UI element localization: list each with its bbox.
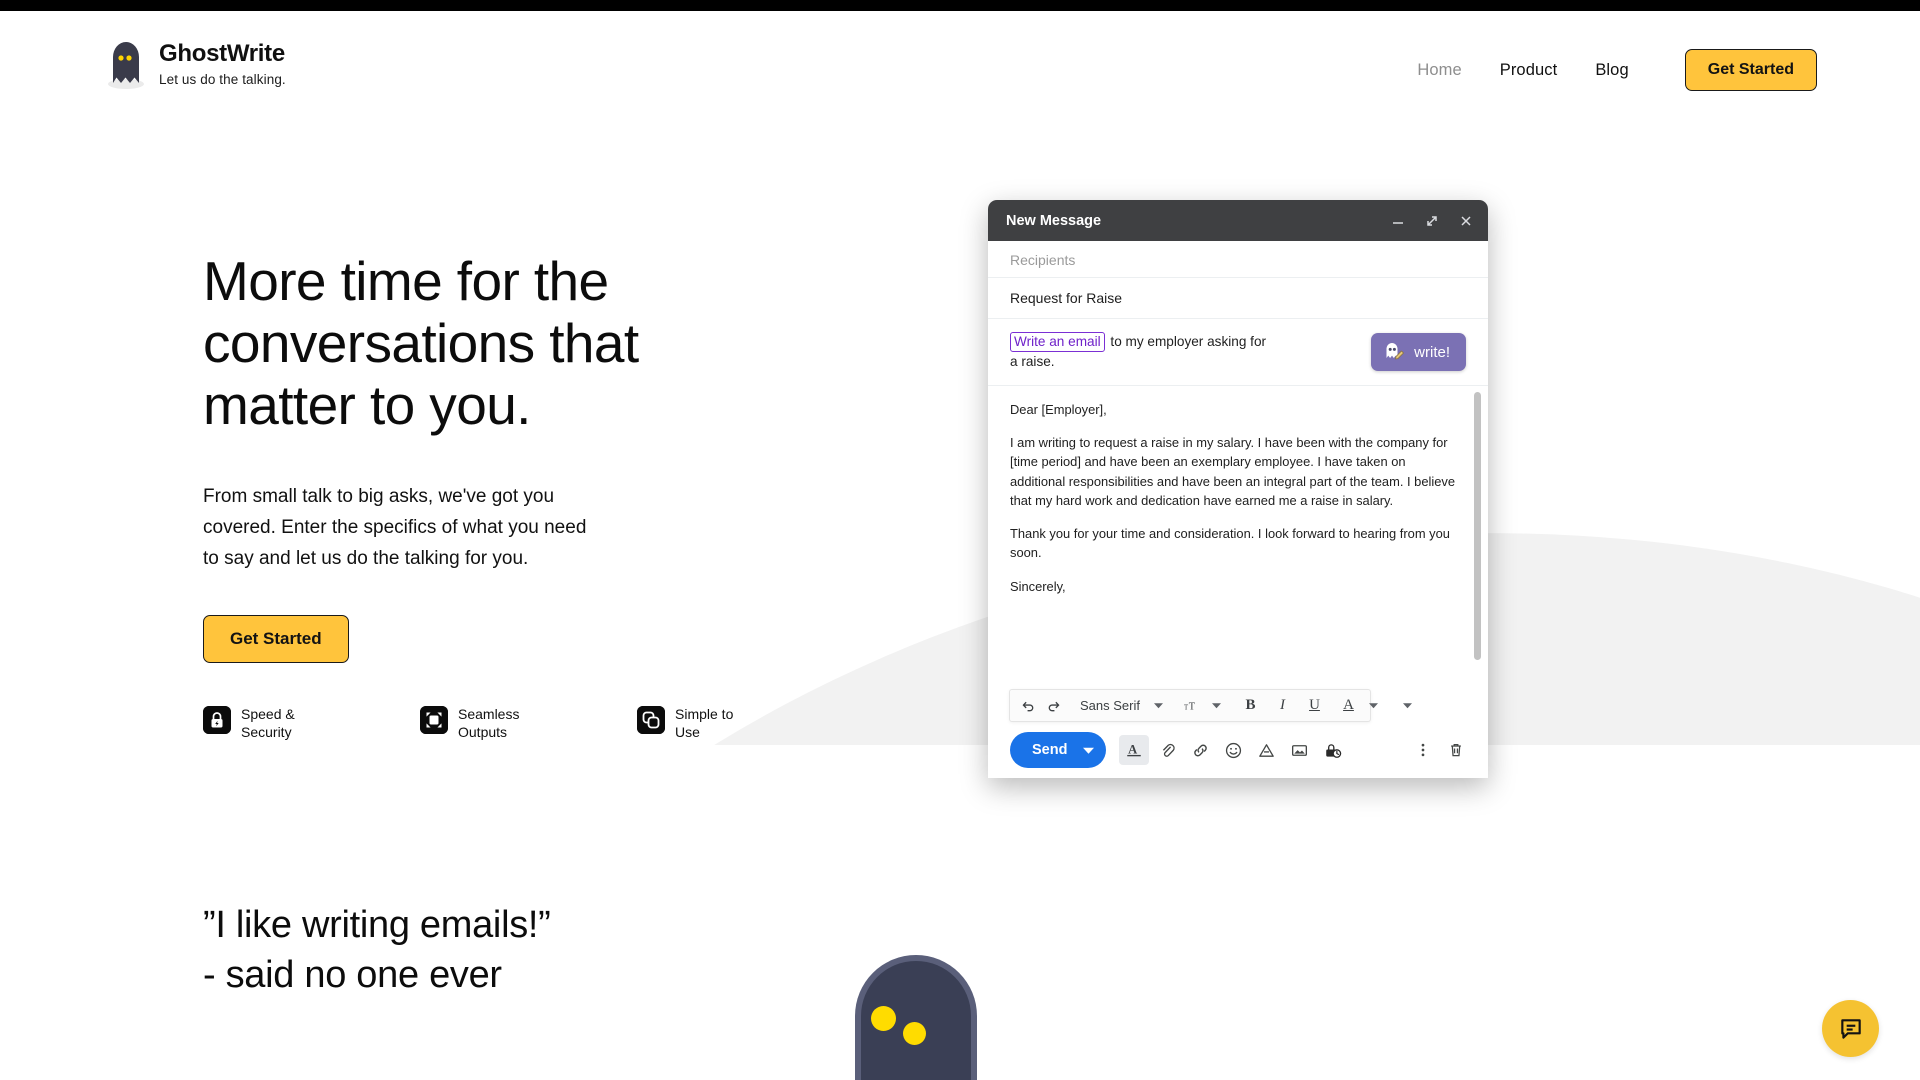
linked-squares-icon xyxy=(637,706,665,734)
compose-window-title: New Message xyxy=(1006,213,1388,229)
format-text-icon[interactable]: A xyxy=(1119,735,1149,765)
ghost-icon xyxy=(103,37,149,91)
hero-subtitle: From small talk to big asks, we've got y… xyxy=(203,482,588,574)
main-navigation: Home Product Blog Get Started xyxy=(1417,49,1817,91)
insert-photo-icon[interactable] xyxy=(1284,735,1314,765)
font-size-chevron-down-icon[interactable] xyxy=(1206,693,1227,718)
minimize-icon[interactable] xyxy=(1388,211,1408,231)
bold-button[interactable]: B xyxy=(1240,693,1261,718)
expand-icon[interactable] xyxy=(1422,211,1442,231)
compose-email-window: New Message xyxy=(988,200,1488,778)
mascot-ghost-large xyxy=(855,955,977,1080)
expand-square-icon xyxy=(420,706,448,734)
nav-link-product[interactable]: Product xyxy=(1500,61,1558,80)
send-button-label: Send xyxy=(1032,742,1067,758)
insert-drive-icon[interactable] xyxy=(1251,735,1281,765)
write-button[interactable]: write! xyxy=(1371,333,1466,371)
trash-icon[interactable] xyxy=(1441,735,1471,765)
nav-link-home[interactable]: Home xyxy=(1417,61,1461,80)
feature-item-speed-security: Speed & Security xyxy=(203,705,317,742)
page-root: GhostWrite Let us do the talking. Home P… xyxy=(0,0,1920,1080)
more-vertical-icon[interactable] xyxy=(1408,735,1438,765)
feature-item-seamless-outputs: Seamless Outputs xyxy=(420,705,534,742)
redo-icon[interactable] xyxy=(1043,693,1064,718)
ghost-eye-left xyxy=(871,1006,896,1031)
chat-bubble-icon xyxy=(1838,1016,1864,1042)
subject-value: Request for Raise xyxy=(1010,278,1468,318)
chat-widget-button[interactable] xyxy=(1822,1000,1879,1057)
brand-title: GhostWrite xyxy=(159,41,286,67)
write-button-label: write! xyxy=(1414,344,1450,361)
send-button[interactable]: Send xyxy=(1010,732,1106,768)
font-family-select[interactable]: Sans Serif xyxy=(1068,698,1144,713)
text-color-chevron-down-icon[interactable] xyxy=(1363,693,1384,718)
browser-top-strip xyxy=(0,0,1920,11)
feature-item-simple-to-use: Simple to Use xyxy=(637,705,751,742)
brand-tagline: Let us do the talking. xyxy=(159,72,286,87)
get-started-button-hero[interactable]: Get Started xyxy=(203,615,349,663)
font-size-button[interactable]: T T xyxy=(1181,693,1202,718)
compose-titlebar: New Message xyxy=(988,200,1488,241)
svg-text:T: T xyxy=(1189,701,1196,712)
email-body-scrollbar[interactable] xyxy=(1474,392,1481,660)
confidential-mode-icon[interactable] xyxy=(1317,735,1347,765)
email-body-paragraph-1: Dear [Employer], xyxy=(1010,400,1458,419)
font-family-value: Sans Serif xyxy=(1080,698,1140,713)
ai-prompt-row: Write an email to my employer asking for… xyxy=(988,319,1488,386)
lock-bolt-icon xyxy=(203,706,231,734)
compose-action-bar: Send A xyxy=(988,722,1488,778)
window-controls xyxy=(1388,211,1476,231)
feature-list: Speed & Security Seamless Outputs xyxy=(203,705,843,742)
insert-link-icon[interactable] xyxy=(1185,735,1215,765)
hero-title: More time for the conversations that mat… xyxy=(203,250,683,436)
testimonial-quote: ”I like writing emails!” - said no one e… xyxy=(203,900,551,1000)
feature-label-seamless-outputs: Seamless Outputs xyxy=(458,705,534,742)
italic-button[interactable]: I xyxy=(1272,693,1293,718)
underline-button[interactable]: U xyxy=(1304,693,1325,718)
hero-section: More time for the conversations that mat… xyxy=(203,250,843,742)
text-color-button[interactable]: A xyxy=(1338,693,1359,718)
more-format-chevron-down-icon[interactable] xyxy=(1397,693,1418,718)
svg-text:A: A xyxy=(1129,743,1138,757)
insert-emoji-icon[interactable] xyxy=(1218,735,1248,765)
format-toolbar: Sans Serif T T B I U A xyxy=(1009,689,1371,722)
email-body-paragraph-4: Sincerely, xyxy=(1010,577,1458,596)
nav-link-blog[interactable]: Blog xyxy=(1595,61,1628,80)
get-started-button-header[interactable]: Get Started xyxy=(1685,49,1817,91)
undo-icon[interactable] xyxy=(1018,693,1039,718)
close-icon[interactable] xyxy=(1456,211,1476,231)
ghost-eye-right xyxy=(903,1022,926,1045)
recipients-placeholder: Recipients xyxy=(1010,252,1468,268)
email-body-editor[interactable]: Dear [Employer], I am writing to request… xyxy=(988,386,1488,722)
prompt-chip[interactable]: Write an email xyxy=(1010,332,1105,352)
feature-label-simple-to-use: Simple to Use xyxy=(675,705,751,742)
email-body-paragraph-2: I am writing to request a raise in my sa… xyxy=(1010,433,1458,510)
recipients-field[interactable]: Recipients xyxy=(988,241,1488,278)
font-family-chevron-down-icon[interactable] xyxy=(1148,693,1169,718)
quote-line-1: ”I like writing emails!” xyxy=(203,900,551,950)
email-body-paragraph-3: Thank you for your time and consideratio… xyxy=(1010,524,1458,562)
ghost-pencil-icon xyxy=(1383,341,1405,363)
attach-file-icon[interactable] xyxy=(1152,735,1182,765)
site-header: GhostWrite Let us do the talking. Home P… xyxy=(0,11,1920,111)
feature-label-speed-security: Speed & Security xyxy=(241,705,317,742)
send-options-chevron-down-icon[interactable] xyxy=(1083,745,1094,756)
brand-logo[interactable]: GhostWrite Let us do the talking. xyxy=(103,37,286,91)
ai-prompt-text[interactable]: Write an email to my employer asking for… xyxy=(1010,332,1268,371)
subject-field[interactable]: Request for Raise xyxy=(988,278,1488,319)
quote-line-2: - said no one ever xyxy=(203,950,551,1000)
